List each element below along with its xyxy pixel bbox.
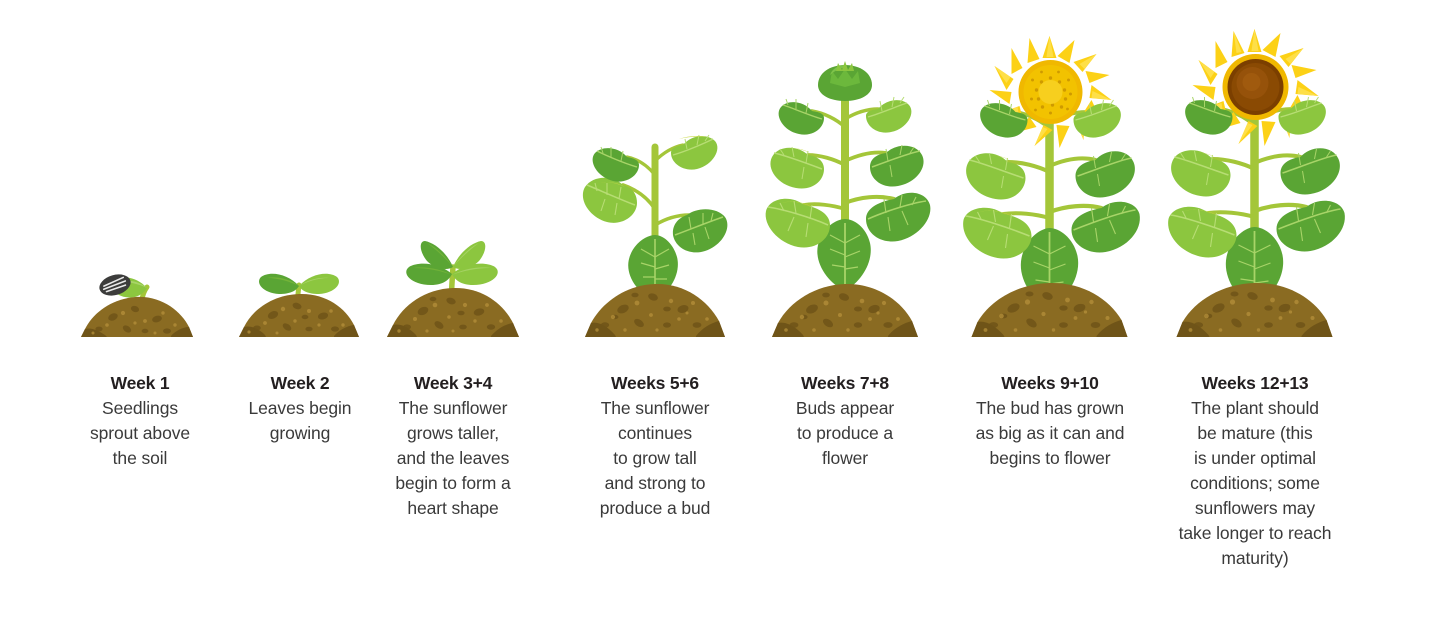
- caption-body: Buds appear to produce a flower: [760, 396, 930, 471]
- caption-body: The bud has grown as big as it can and b…: [950, 396, 1150, 471]
- illustration-plant-with-green-bud: [760, 0, 930, 337]
- soil-mound: [772, 284, 918, 337]
- stage-weeks-7-8: Weeks 7+8 Buds appear to produce a flowe…: [760, 0, 930, 637]
- caption-weeks-5-6: Weeks 5+6 The sunflower continues to gro…: [571, 371, 739, 521]
- caption-week-1: Week 1 Seedlings sprout above the soil: [60, 371, 220, 471]
- caption-body: The plant should be mature (this is unde…: [1150, 396, 1360, 571]
- caption-body: The sunflower grows taller, and the leav…: [373, 396, 533, 521]
- caption-title: Week 1: [60, 371, 220, 396]
- caption-title: Week 2: [220, 371, 380, 396]
- stage-weeks-9-10: Weeks 9+10 The bud has grown as big as i…: [950, 0, 1150, 637]
- soil-mound: [387, 288, 519, 337]
- caption-title: Weeks 5+6: [571, 371, 739, 396]
- soil-mound: [239, 294, 359, 337]
- caption-title: Weeks 12+13: [1150, 371, 1360, 396]
- stage-weeks-5-6: Weeks 5+6 The sunflower continues to gro…: [571, 0, 739, 637]
- illustration-seedling-two-leaves: [220, 0, 380, 337]
- illustration-mature-sunflower: [1150, 0, 1360, 337]
- stage-week-3-4: Week 3+4 The sunflower grows taller, and…: [373, 0, 533, 637]
- illustration-tall-plant-heart-leaves: [571, 0, 739, 337]
- caption-week-3-4: Week 3+4 The sunflower grows taller, and…: [373, 371, 533, 521]
- soil-mound: [972, 283, 1128, 337]
- caption-body: The sunflower continues to grow tall and…: [571, 396, 739, 521]
- caption-weeks-9-10: Weeks 9+10 The bud has grown as big as i…: [950, 371, 1150, 471]
- caption-body: Seedlings sprout above the soil: [60, 396, 220, 471]
- caption-weeks-12-13: Weeks 12+13 The plant should be mature (…: [1150, 371, 1360, 571]
- caption-title: Weeks 9+10: [950, 371, 1150, 396]
- stage-week-1: Week 1 Seedlings sprout above the soil: [60, 0, 220, 637]
- caption-title: Week 3+4: [373, 371, 533, 396]
- caption-weeks-7-8: Weeks 7+8 Buds appear to produce a flowe…: [760, 371, 930, 471]
- stage-week-2: Week 2 Leaves begin growing: [220, 0, 380, 637]
- soil-mound: [81, 297, 193, 337]
- stage-weeks-12-13: Weeks 12+13 The plant should be mature (…: [1150, 0, 1360, 637]
- illustration-young-plant-four-leaves: [373, 0, 533, 337]
- caption-week-2: Week 2 Leaves begin growing: [220, 371, 380, 446]
- soil-mound: [1177, 283, 1333, 337]
- illustration-plant-opening-flower: [950, 0, 1150, 337]
- sunflower-growth-infographic: Week 1 Seedlings sprout above the soil: [0, 0, 1436, 637]
- soil-mound: [585, 284, 725, 337]
- caption-title: Weeks 7+8: [760, 371, 930, 396]
- caption-body: Leaves begin growing: [220, 396, 380, 446]
- flower-bud: [818, 61, 872, 101]
- illustration-seed-sprout: [60, 0, 220, 337]
